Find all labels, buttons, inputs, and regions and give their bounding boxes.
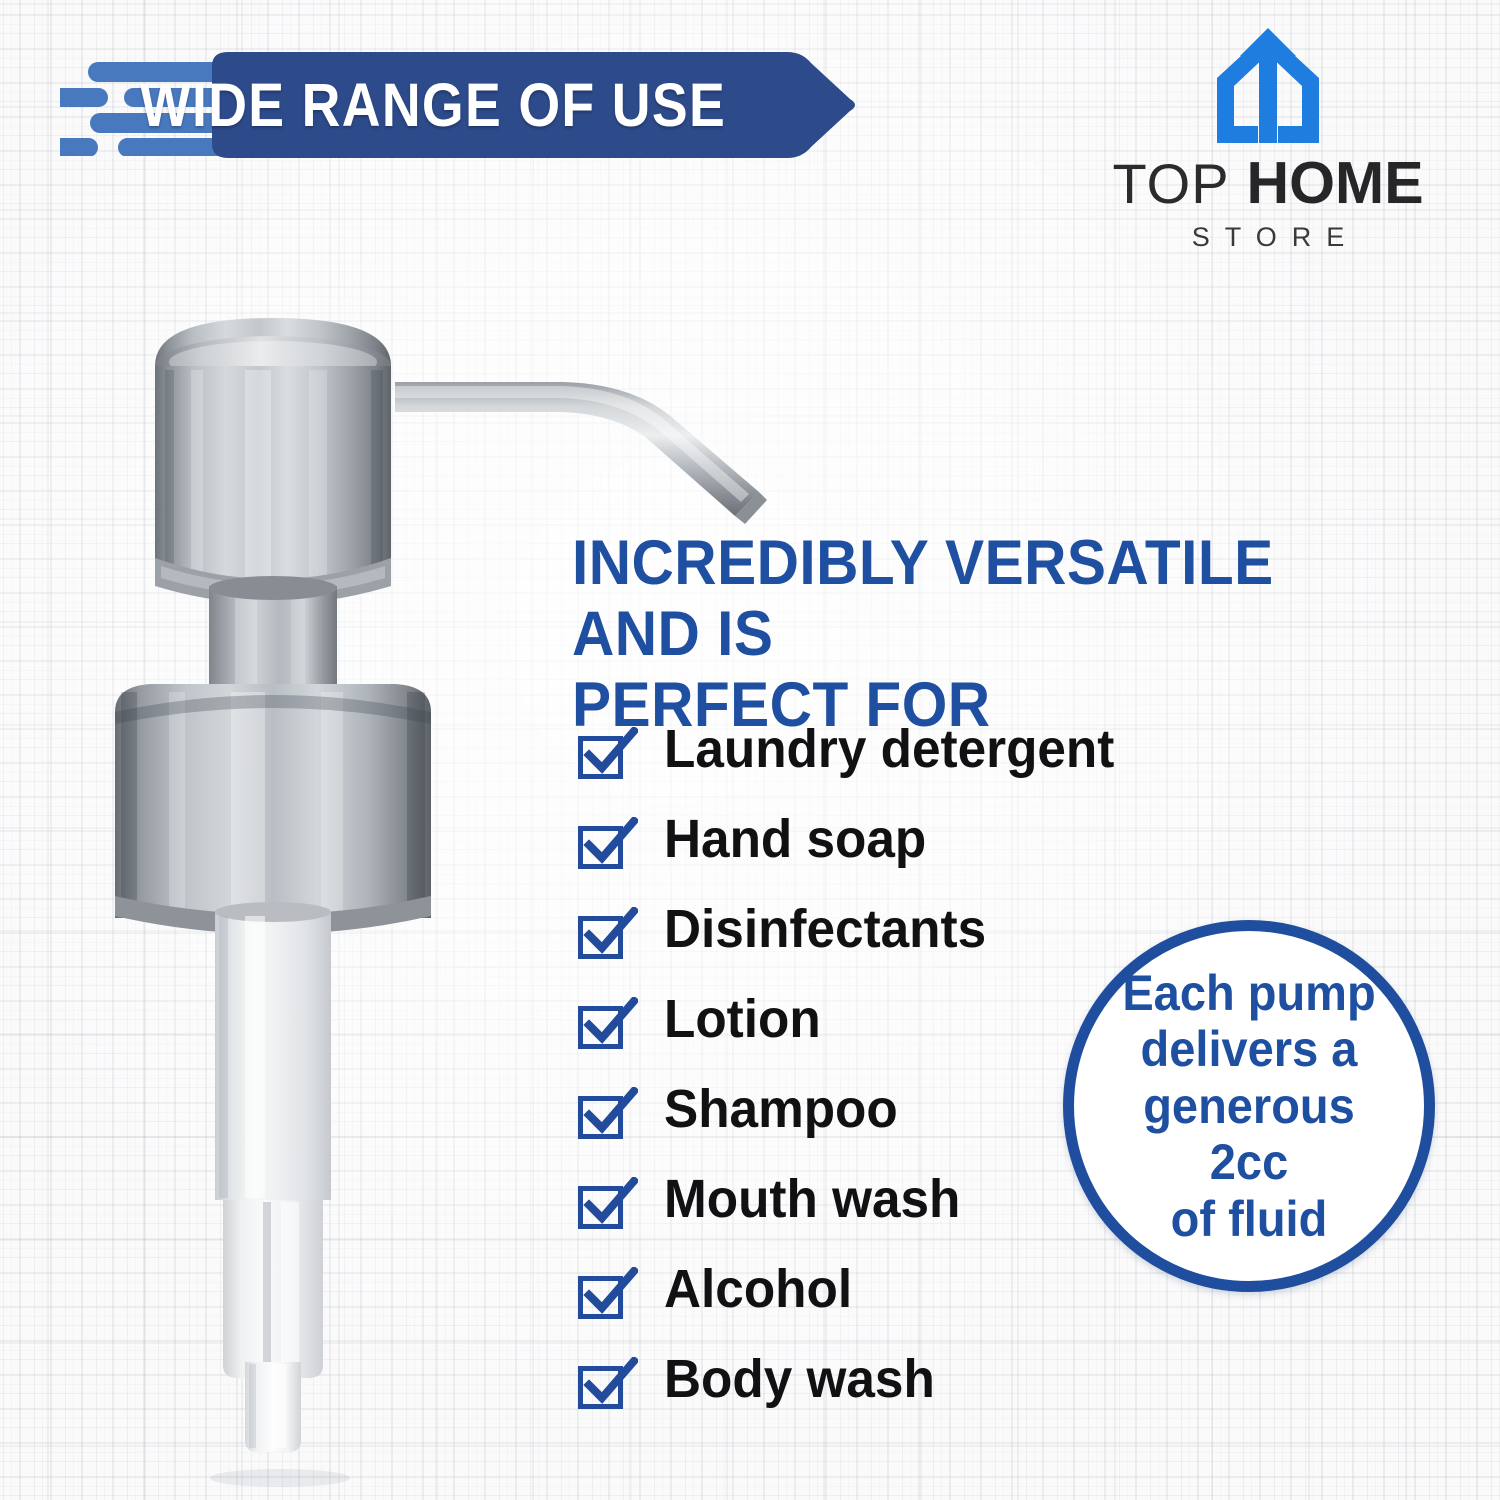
checkbox-checked-icon[interactable] [578,1357,622,1401]
checkbox-checked-icon[interactable] [578,907,622,951]
checkbox-checked-icon[interactable] [578,1267,622,1311]
badge-line-1: Each pump [1101,965,1396,1022]
list-item-label: Mouth wash [664,1172,960,1226]
list-item-label: Body wash [664,1352,935,1406]
checkbox-checked-icon[interactable] [578,1177,622,1221]
list-item-label: Hand soap [664,812,926,866]
list-item-label: Shampoo [664,1082,898,1136]
badge-line-4: of fluid [1101,1191,1396,1248]
list-item-label: Laundry detergent [664,722,1114,776]
badge-line-2: delivers a [1101,1021,1396,1078]
product-feature-image: WIDE RANGE OF USE TOP HOME STORE [0,0,1500,1500]
list-item-label: Alcohol [664,1262,852,1316]
list-item-label: Lotion [664,992,821,1046]
brand-logo: TOP HOME STORE [1088,26,1448,253]
header-banner: WIDE RANGE OF USE [60,52,860,158]
badge-text: Each pump delivers a generous 2cc of flu… [1085,965,1414,1248]
logo-wordmark: TOP HOME [1088,154,1448,213]
checkbox-checked-icon[interactable] [578,817,622,861]
logo-word-top: TOP [1112,156,1229,212]
pump-volume-badge: Each pump delivers a generous 2cc of flu… [1063,920,1435,1292]
headline-line-1: INCREDIBLY VERSATILE AND IS [572,528,1390,670]
logo-word-store: STORE [1088,222,1448,253]
logo-word-home: HOME [1247,154,1424,213]
list-item[interactable]: Body wash [578,1334,1218,1424]
checkbox-checked-icon[interactable] [578,727,622,771]
list-item-label: Disinfectants [664,902,986,956]
house-arrow-icon [1212,26,1324,146]
list-item[interactable]: Disinfectants [578,884,1218,974]
checkbox-checked-icon[interactable] [578,1087,622,1131]
list-item[interactable]: Alcohol [578,1244,1218,1334]
badge-line-3: generous 2cc [1101,1078,1396,1191]
list-item[interactable]: Laundry detergent [578,704,1218,794]
checkbox-checked-icon[interactable] [578,997,622,1041]
list-item[interactable]: Hand soap [578,794,1218,884]
banner-title: WIDE RANGE OF USE [140,52,580,158]
